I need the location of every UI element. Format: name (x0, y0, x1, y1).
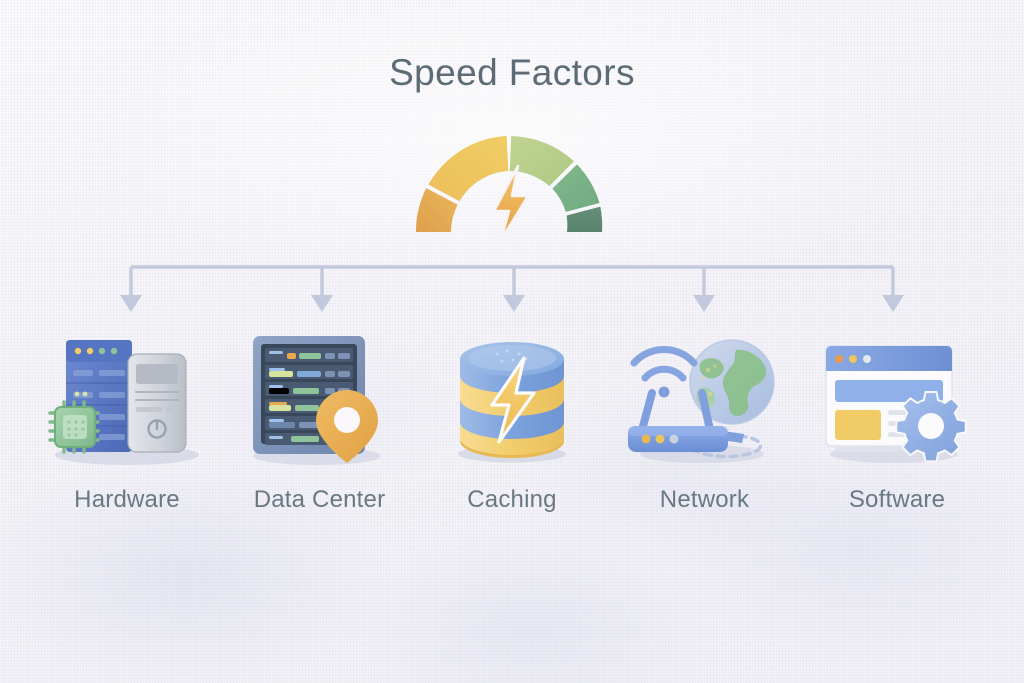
window-dot-grey (863, 355, 871, 363)
connector-arrow-data-center (311, 295, 333, 312)
speed-gauge-icon (406, 126, 618, 244)
gauge-svg (406, 126, 618, 244)
gear-icon (896, 392, 965, 461)
router-body (628, 426, 728, 452)
server-rack-with-location-pin-icon (235, 330, 405, 470)
caching-svg (427, 330, 597, 470)
page-title: Speed Factors (0, 52, 1024, 94)
connector-arrow-hardware (120, 295, 142, 312)
software-svg (812, 330, 982, 470)
factor-label-software: Software (849, 486, 945, 514)
connector-arrow-software (882, 295, 904, 312)
factor-item-data-center[interactable]: Data Center (227, 330, 413, 514)
connector-svg (0, 255, 1024, 320)
gauge-segment-very-fast (567, 207, 603, 232)
branch-connector (0, 255, 1024, 320)
factor-item-hardware[interactable]: Hardware (34, 330, 220, 514)
factor-label-network: Network (660, 486, 749, 514)
factor-label-hardware: Hardware (74, 486, 180, 514)
network-svg (620, 330, 790, 470)
factor-list: Hardware (0, 330, 1024, 540)
window-dot-yellow (849, 355, 857, 363)
lightning-bolt-icon (494, 166, 528, 240)
router-wifi-globe-icon (620, 330, 790, 470)
router-antennas (642, 393, 710, 430)
wifi-icon (634, 349, 694, 378)
server-and-cpu-icon (42, 330, 212, 470)
infographic-canvas: Speed Factors (0, 0, 1024, 683)
cpu-chip-icon (50, 402, 98, 452)
window-dot-orange (835, 355, 843, 363)
database-with-bolt-icon (427, 330, 597, 470)
factor-item-network[interactable]: Network (612, 330, 798, 514)
factor-label-data-center: Data Center (254, 486, 386, 514)
pc-tower (128, 354, 186, 452)
wifi-dot (658, 387, 669, 398)
gauge-segment-slow (428, 136, 508, 201)
factor-label-caching: Caching (467, 486, 556, 514)
hardware-svg (42, 330, 212, 470)
factor-item-caching[interactable]: Caching (419, 330, 605, 514)
connector-arrow-network (693, 295, 715, 312)
connector-arrow-caching (503, 295, 525, 312)
factor-item-software[interactable]: Software (804, 330, 990, 514)
data-center-svg (235, 330, 405, 470)
app-window-with-gear-icon (812, 330, 982, 470)
